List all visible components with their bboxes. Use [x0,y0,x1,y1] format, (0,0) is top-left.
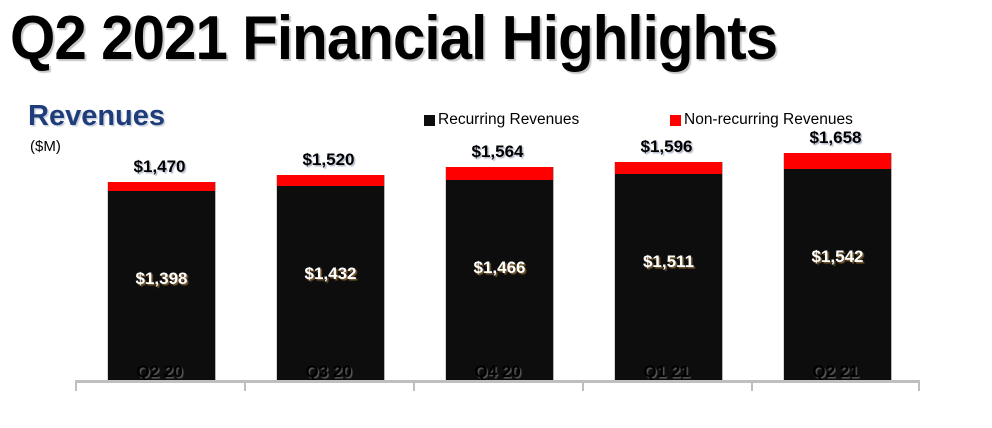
category-label: Q4 20 [413,362,582,382]
bar-total-label: $1,470 [75,157,244,177]
bar-stack[interactable]: $1,542 [784,153,891,382]
bar-total-label: $1,520 [244,150,413,170]
category-label: Q2 21 [751,362,920,382]
bar-total-label: $1,658 [751,128,920,148]
axis-tick [918,382,920,391]
bar-value-label: $1,511 [615,252,722,272]
bar-stack[interactable]: $1,466 [446,167,553,382]
bar-group: $1,564 $1,466 Q4 20 [413,124,582,382]
bar-group: $1,520 $1,432 Q3 20 [244,124,413,382]
bar-segment-non-recurring[interactable] [446,167,553,180]
bar-value-label: $1,466 [446,258,553,278]
bar-segment-recurring[interactable]: $1,542 [784,169,891,382]
category-label: Q3 20 [244,362,413,382]
x-axis-line [75,380,920,383]
bar-total-label: $1,564 [413,142,582,162]
axis-tick [413,382,415,391]
bar-segment-recurring[interactable]: $1,511 [615,174,722,382]
bar-group: $1,596 $1,511 Q1 21 [582,124,751,382]
plot-area: $1,470 $1,398 Q2 20 $1,520 $1,432 Q3 20 … [75,124,920,419]
bar-segment-non-recurring[interactable] [615,162,722,174]
bar-segment-recurring[interactable]: $1,398 [108,191,215,382]
category-label: Q1 21 [582,362,751,382]
axis-tick [244,382,246,391]
bar-stack[interactable]: $1,432 [277,175,384,382]
chart-units-label: ($M) [30,138,61,155]
bar-segment-non-recurring[interactable] [277,175,384,186]
bar-group: $1,658 $1,542 Q2 21 [751,124,920,382]
page-title: Q2 2021 Financial Highlights [10,4,927,76]
bar-stack[interactable]: $1,398 [108,182,215,382]
bar-value-label: $1,432 [277,264,384,284]
revenues-stacked-bar-chart: Revenues ($M) Recurring Revenues Non-rec… [0,84,992,428]
bar-value-label: $1,398 [108,269,215,289]
bar-stack[interactable]: $1,511 [615,162,722,382]
axis-tick [582,382,584,391]
bar-segment-recurring[interactable]: $1,432 [277,186,384,382]
bar-total-label: $1,596 [582,137,751,157]
bar-group: $1,470 $1,398 Q2 20 [75,124,244,382]
bar-segment-non-recurring[interactable] [108,182,215,191]
bar-segment-non-recurring[interactable] [784,153,891,169]
category-label: Q2 20 [75,362,244,382]
bar-segment-recurring[interactable]: $1,466 [446,180,553,382]
bar-value-label: $1,542 [784,247,891,267]
axis-tick [751,382,753,391]
axis-tick [75,382,77,391]
